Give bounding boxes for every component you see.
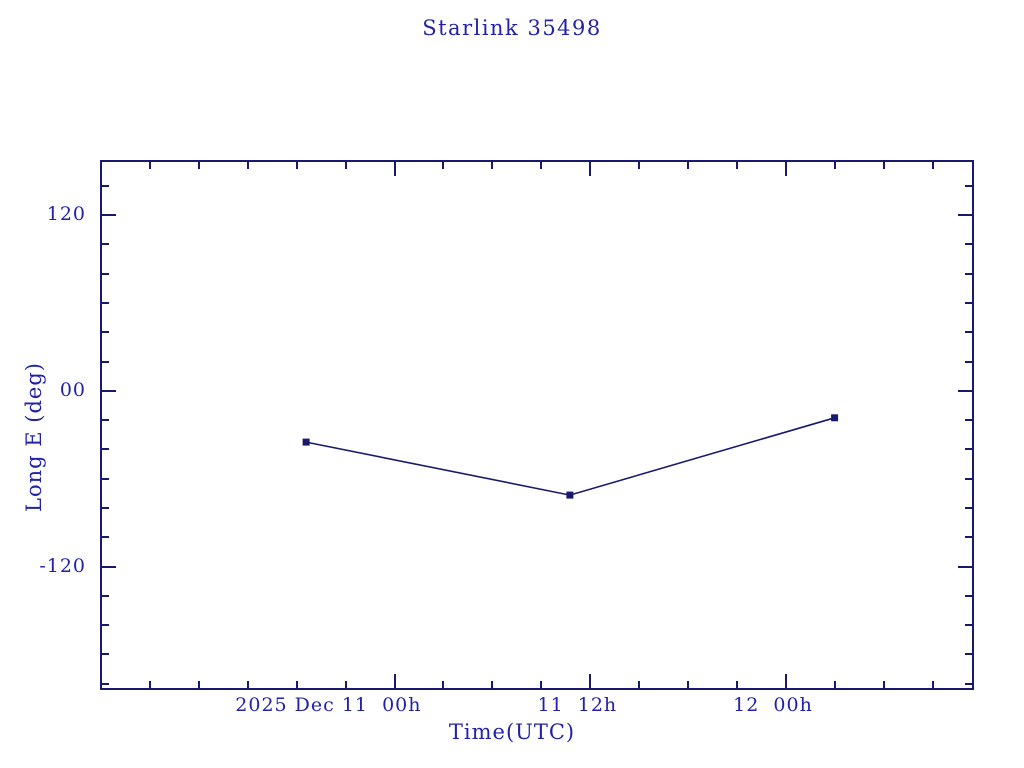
y-tick-right (965, 419, 974, 421)
y-tick-left (100, 683, 109, 685)
y-tick-left (100, 478, 109, 480)
y-tick-right (965, 653, 974, 655)
x-tick-bottom (149, 681, 151, 690)
x-tick-top (442, 160, 444, 169)
y-tick-left (100, 214, 116, 216)
y-axis-title: Long E (deg) (22, 337, 46, 537)
y-tick-right (965, 361, 974, 363)
x-axis-title: Time(UTC) (0, 720, 1024, 744)
x-tick-bottom (247, 681, 249, 690)
y-tick-right (965, 536, 974, 538)
page-title: Starlink 35498 (0, 16, 1024, 40)
y-tick-right (965, 448, 974, 450)
x-tick-label: 2025 Dec 11 00h (235, 694, 421, 716)
x-tick-top (736, 160, 738, 169)
y-tick-right (965, 302, 974, 304)
y-tick-right (965, 185, 974, 187)
x-tick-label: 12 00h (733, 694, 813, 716)
plot-area (100, 160, 974, 690)
y-tick-left (100, 390, 116, 392)
y-tick-left (100, 331, 109, 333)
chart-canvas: Starlink 35498 12000-120 2025 Dec 11 00h… (0, 0, 1024, 768)
y-tick-left (100, 185, 109, 187)
x-tick-top (785, 160, 787, 176)
y-tick-right (965, 624, 974, 626)
x-tick-bottom (687, 681, 689, 690)
y-tick-label: -120 (39, 555, 86, 577)
y-tick-right (958, 214, 974, 216)
x-tick-bottom (589, 674, 591, 690)
y-tick-label: 120 (47, 203, 86, 225)
y-tick-left (100, 507, 109, 509)
x-tick-bottom (736, 681, 738, 690)
x-tick-top (540, 160, 542, 169)
x-tick-bottom (491, 681, 493, 690)
x-tick-top (834, 160, 836, 169)
x-tick-bottom (345, 681, 347, 690)
y-tick-left (100, 243, 109, 245)
x-tick-top (296, 160, 298, 169)
x-tick-top (198, 160, 200, 169)
x-tick-label: 11 12h (538, 694, 618, 716)
x-tick-top (638, 160, 640, 169)
y-tick-right (965, 595, 974, 597)
y-tick-right (965, 273, 974, 275)
x-tick-top (589, 160, 591, 176)
x-tick-bottom (638, 681, 640, 690)
y-tick-left (100, 448, 109, 450)
y-tick-left (100, 566, 116, 568)
x-tick-bottom (932, 681, 934, 690)
y-tick-left (100, 595, 109, 597)
y-tick-right (965, 478, 974, 480)
y-tick-right (958, 566, 974, 568)
x-tick-bottom (834, 681, 836, 690)
y-tick-left (100, 273, 109, 275)
y-tick-right (965, 331, 974, 333)
y-tick-right (965, 507, 974, 509)
x-tick-top (247, 160, 249, 169)
x-tick-top (687, 160, 689, 169)
y-tick-right (965, 683, 974, 685)
x-tick-top (394, 160, 396, 176)
y-tick-right (965, 243, 974, 245)
y-tick-left (100, 653, 109, 655)
x-tick-top (491, 160, 493, 169)
x-tick-bottom (394, 674, 396, 690)
y-tick-left (100, 419, 109, 421)
x-tick-bottom (198, 681, 200, 690)
y-tick-right (958, 390, 974, 392)
x-tick-bottom (442, 681, 444, 690)
y-tick-left (100, 361, 109, 363)
x-tick-bottom (296, 681, 298, 690)
x-tick-top (932, 160, 934, 169)
x-tick-top (149, 160, 151, 169)
x-tick-bottom (540, 681, 542, 690)
y-tick-left (100, 536, 109, 538)
x-tick-bottom (883, 681, 885, 690)
y-tick-left (100, 624, 109, 626)
x-tick-top (883, 160, 885, 169)
x-tick-bottom (785, 674, 787, 690)
x-tick-top (345, 160, 347, 169)
y-tick-label: 00 (60, 379, 86, 401)
y-tick-left (100, 302, 109, 304)
